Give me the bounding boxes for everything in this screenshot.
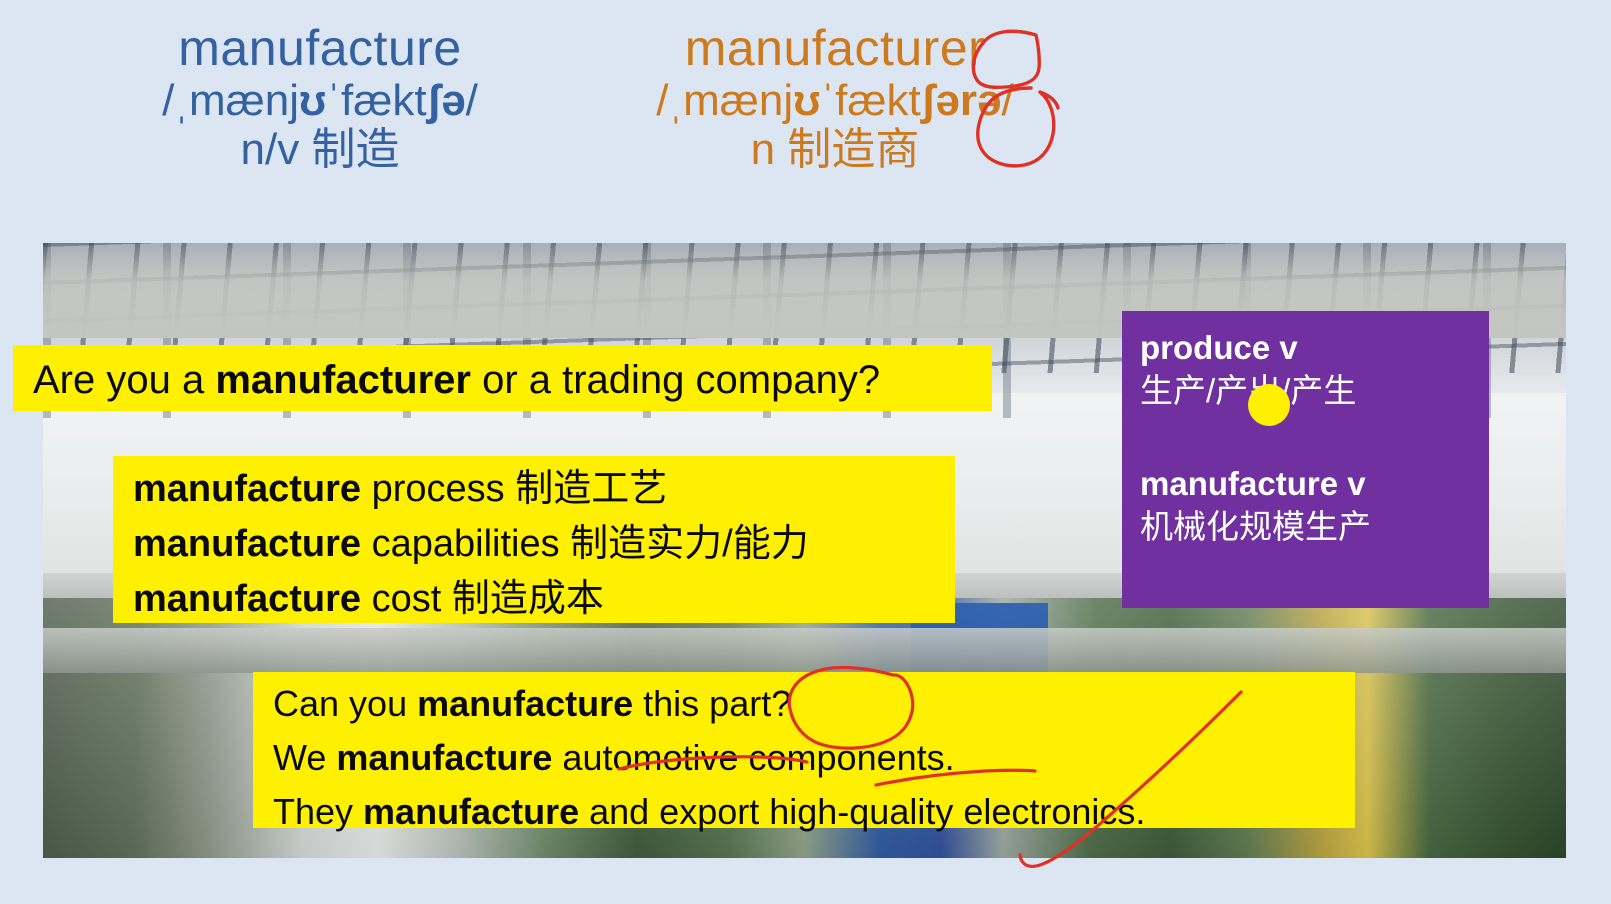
question-keyword: manufacturer: [215, 358, 471, 402]
sentence-line: They manufacture and export high-quality…: [273, 785, 1355, 839]
ipa-part-stress2-left: ʃə: [427, 76, 466, 125]
collocation-keyword: manufacture: [133, 523, 361, 565]
collocation-rest: cost 制造成本: [361, 578, 604, 620]
question-text-part1: Are you a: [33, 358, 215, 402]
definition-term-manufacture: manufacture v: [1140, 463, 1489, 505]
sentence-keyword: manufacture: [336, 737, 552, 778]
highlight-collocations-box: manufacture process 制造工艺 manufacture cap…: [113, 456, 955, 623]
collocation-line: manufacture process 制造工艺: [133, 462, 955, 517]
definition-gloss-produce: 生产/产出/产生: [1140, 369, 1489, 413]
ipa-part-stress1-left: ʊ: [299, 76, 326, 125]
vocab-word-right: manufacturer: [575, 20, 1095, 76]
collocation-rest: capabilities 制造实力/能力: [361, 523, 809, 565]
collocation-keyword: manufacture: [133, 468, 361, 510]
sentence-post: automotive components.: [552, 737, 954, 778]
collocation-line: manufacture capabilities 制造实力/能力: [133, 517, 955, 572]
ipa-part-stress1-right: ʊ: [793, 76, 820, 125]
ipa-part-suffix-right: /: [1001, 76, 1013, 125]
vocab-gloss-right: n 制造商: [575, 125, 1095, 174]
collocation-rest: process 制造工艺: [361, 468, 667, 510]
definition-spacer: [1140, 413, 1489, 463]
ipa-part-mid-right: ˈfækt: [821, 76, 921, 125]
vocab-gloss-left: n/v 制造: [60, 125, 580, 174]
sentence-post: this part?: [633, 683, 791, 724]
photo-railing-layer: [43, 628, 1566, 673]
vocab-word-left: manufacture: [60, 20, 580, 76]
sentence-pre: They: [273, 791, 363, 832]
highlight-question-box: Are you a manufacturer or a trading comp…: [13, 345, 992, 411]
ipa-part-suffix-left: /: [466, 76, 478, 125]
definition-purple-box: produce v 生产/产出/产生 manufacture v 机械化规模生产: [1122, 311, 1489, 608]
sentence-keyword: manufacture: [363, 791, 579, 832]
ipa-part-stress2-right: ʃərə: [921, 76, 1002, 125]
vocab-ipa-right: /ˌmænjʊˈfæktʃərə/: [575, 76, 1095, 125]
vocab-entry-manufacturer: manufacturer /ˌmænjʊˈfæktʃərə/ n 制造商: [575, 20, 1095, 175]
sentence-line: Can you manufacture this part?: [273, 677, 1355, 731]
slide-canvas: manufacture /ˌmænjʊˈfæktʃə/ n/v 制造 manuf…: [0, 0, 1611, 904]
ipa-part-prefix-right: /ˌmænj: [656, 76, 793, 125]
definition-gloss-manufacture: 机械化规模生产: [1140, 505, 1489, 549]
sentence-keyword: manufacture: [417, 683, 633, 724]
sentence-line: We manufacture automotive components.: [273, 731, 1355, 785]
highlight-sentences-box: Can you manufacture this part? We manufa…: [253, 672, 1355, 828]
definition-term-produce: produce v: [1140, 327, 1489, 369]
vocab-ipa-left: /ˌmænjʊˈfæktʃə/: [60, 76, 580, 125]
collocation-line: manufacture cost 制造成本: [133, 572, 955, 627]
question-text-part2: or a trading company?: [471, 358, 880, 402]
vocab-entry-manufacture: manufacture /ˌmænjʊˈfæktʃə/ n/v 制造: [60, 20, 580, 175]
sentence-pre: We: [273, 737, 336, 778]
ipa-part-mid-left: ˈfækt: [326, 76, 426, 125]
collocation-keyword: manufacture: [133, 578, 361, 620]
ipa-part-prefix-left: /ˌmænj: [162, 76, 299, 125]
sentence-post: and export high-quality electronics.: [579, 791, 1145, 832]
yellow-dot-annotation: [1248, 384, 1290, 426]
sentence-pre: Can you: [273, 683, 417, 724]
